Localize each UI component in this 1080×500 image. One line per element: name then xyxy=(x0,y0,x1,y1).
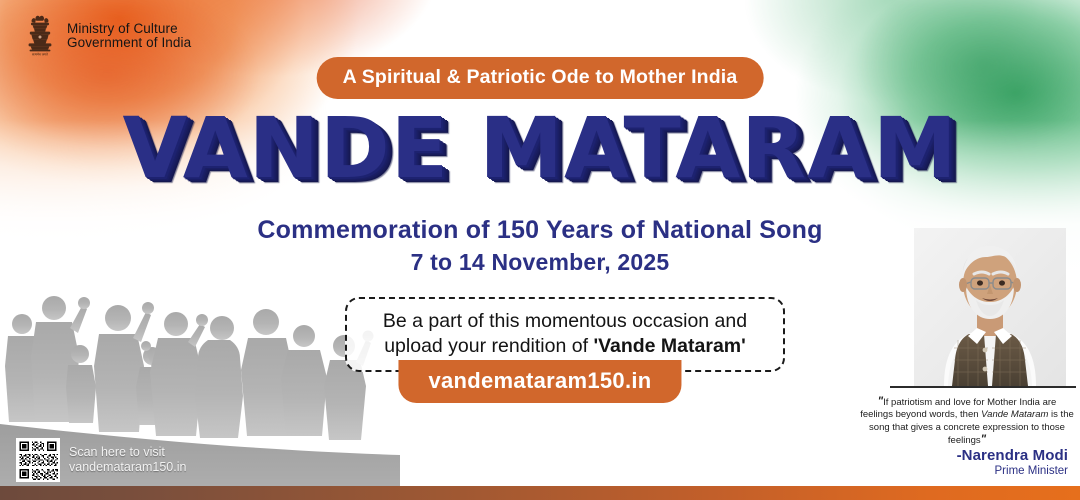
qr-code-icon[interactable] xyxy=(16,438,60,482)
quote-attribution: -Narendra Modi Prime Minister xyxy=(868,447,1068,477)
svg-text:सत्यमेव जयते: सत्यमेव जयते xyxy=(32,53,48,57)
qr-scan-block: Scan here to visit vandemataram150.in xyxy=(16,438,186,482)
callout-song-name: 'Vande Mataram' xyxy=(593,335,745,357)
event-subtitle: Commemoration of 150 Years of National S… xyxy=(257,216,822,245)
callout-line-2-prefix: upload your rendition of xyxy=(384,335,593,357)
ministry-line-1: Ministry of Culture xyxy=(67,22,191,37)
callout-line-2: upload your rendition of 'Vande Mataram' xyxy=(361,334,769,359)
qr-instruction-text: Scan here to visit vandemataram150.in xyxy=(69,445,186,475)
ashoka-lion-capital-emblem-icon: सत्यमेव जयते xyxy=(22,12,58,60)
tagline-badge: A Spiritual & Patriotic Ode to Mother In… xyxy=(317,57,764,99)
quote-song-name: Vande Mataram xyxy=(981,409,1048,420)
vande-mataram-campaign-banner: सत्यमेव जयते Ministry of Culture Governm… xyxy=(0,0,1080,500)
quote-close-mark: " xyxy=(981,434,986,446)
quote-divider xyxy=(890,386,1076,388)
qr-text-line-2: vandemataram150.in xyxy=(69,460,186,475)
ministry-line-2: Government of India xyxy=(67,36,191,51)
bottom-accent-strip xyxy=(0,486,1080,500)
pm-quote: "If patriotism and love for Mother India… xyxy=(860,396,1074,448)
event-dates: 7 to 14 November, 2025 xyxy=(411,249,670,276)
ministry-name: Ministry of Culture Government of India xyxy=(67,22,191,51)
quote-author: -Narendra Modi xyxy=(868,447,1068,464)
page-title: VANDE MATARAM xyxy=(122,105,957,191)
website-url-button[interactable]: vandemataram150.in xyxy=(398,360,681,403)
callout-line-1: Be a part of this momentous occasion and xyxy=(361,309,769,334)
ministry-lockup: सत्यमेव जयते Ministry of Culture Governm… xyxy=(22,12,191,60)
quote-author-role: Prime Minister xyxy=(868,465,1068,477)
qr-text-line-1: Scan here to visit xyxy=(69,445,186,460)
